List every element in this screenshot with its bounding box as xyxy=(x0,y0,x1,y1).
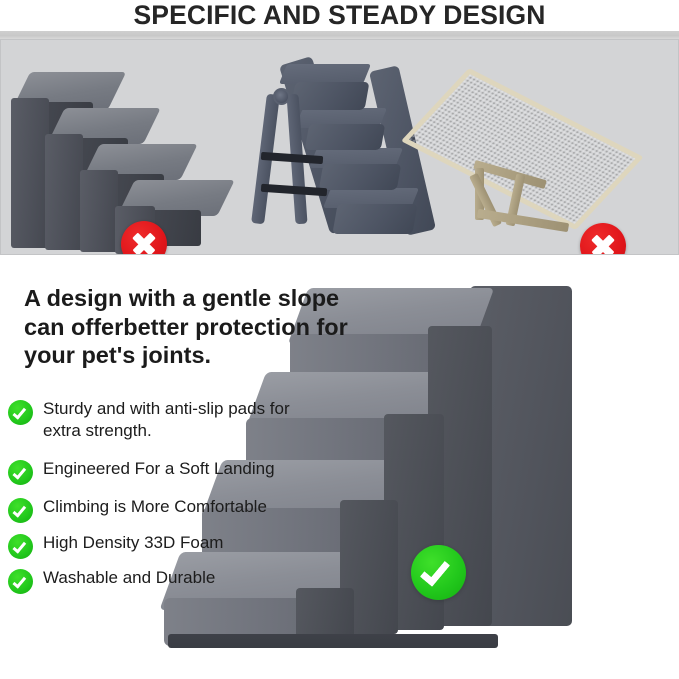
list-item: Climbing is More Comfortable xyxy=(8,496,267,523)
check-icon xyxy=(8,534,33,559)
check-icon xyxy=(8,400,33,425)
feature-headline: A design with a gentle slope can offerbe… xyxy=(24,284,354,370)
bullet-text: Engineered For a Soft Landing xyxy=(43,458,275,480)
page-title: SPECIFIC AND STEADY DESIGN xyxy=(134,0,546,31)
bullet-text: Climbing is More Comfortable xyxy=(43,496,267,518)
wooden-ramp-image xyxy=(459,60,669,240)
green-check-badge xyxy=(411,545,466,600)
foam-stairs-image xyxy=(11,62,235,240)
plastic-stairs-image xyxy=(251,58,447,244)
comparison-item-foam-stairs xyxy=(3,40,239,255)
list-item: Sturdy and with anti-slip pads for extra… xyxy=(8,398,328,442)
comparison-item-wooden-ramp xyxy=(441,40,679,255)
title-divider xyxy=(0,31,679,39)
bullet-text: High Density 33D Foam xyxy=(43,532,223,554)
check-icon xyxy=(8,460,33,485)
dog-photo xyxy=(449,656,679,679)
bullet-text: Sturdy and with anti-slip pads for extra… xyxy=(43,398,328,442)
check-icon xyxy=(8,569,33,594)
infographic-page: SPECIFIC AND STEADY DESIGN xyxy=(0,0,679,679)
title-bar: SPECIFIC AND STEADY DESIGN xyxy=(0,0,679,31)
bullet-text: Washable and Durable xyxy=(43,567,215,589)
check-icon xyxy=(8,498,33,523)
comparison-panel: Not Easy To Climb Slippery Easy To Fall xyxy=(0,39,679,255)
list-item: Washable and Durable xyxy=(8,567,215,594)
list-item: High Density 33D Foam xyxy=(8,532,223,559)
feature-panel: A design with a gentle slope can offerbe… xyxy=(0,258,679,679)
list-item: Engineered For a Soft Landing xyxy=(8,458,275,485)
